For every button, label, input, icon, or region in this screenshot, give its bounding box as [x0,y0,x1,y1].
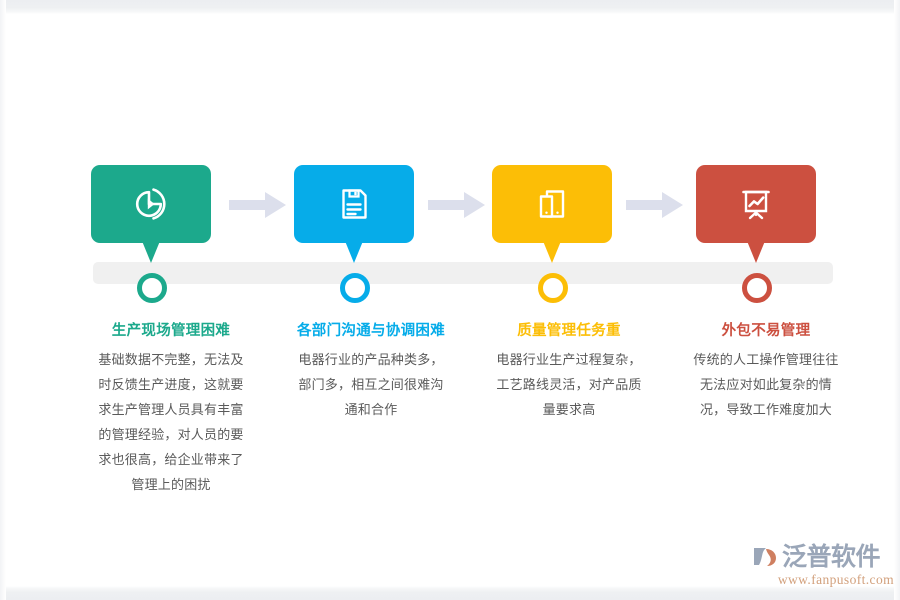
stage-3-timeline-node[interactable] [538,273,568,303]
stage-2-timeline-node[interactable] [340,273,370,303]
stage-3[interactable] [492,165,614,243]
stage-2-pointer [345,241,363,263]
devices-icon [530,182,574,226]
stage-2-card[interactable] [294,165,414,243]
stage-4-text: 外包不易管理 传统的人工操作管理往往无法应对如此复杂的情况，导致工作难度加大 [692,320,840,422]
stage-3-pointer [543,241,561,263]
stage-4-title: 外包不易管理 [692,320,840,343]
stage-2-body: 电器行业的产品种类多，部门多，相互之间很难沟通和合作 [297,347,445,422]
stage-3-card[interactable] [492,165,612,243]
stage-3-title: 质量管理任务重 [495,320,643,343]
stage-4[interactable] [696,165,818,243]
watermark-logo: 泛普软件 www.fanpusoft.com [752,541,894,591]
watermark-brand-row: 泛普软件 [752,541,894,573]
flow-arrow-3 [626,191,683,219]
stage-2-text: 各部门沟通与协调困难 电器行业的产品种类多，部门多，相互之间很难沟通和合作 [297,320,445,422]
right-arrow-icon [428,191,485,219]
stage-1-body: 基础数据不完整，无法及时反馈生产进度，这就要求生产管理人员具有丰富的管理经验，对… [97,347,245,497]
stage-2[interactable] [294,165,416,243]
watermark-brand-text: 泛普软件 [782,543,880,571]
presentation-chart-icon [734,182,778,226]
flow-arrow-2 [428,191,485,219]
stage-1-pointer [142,241,160,263]
flow-arrow-1 [229,191,286,219]
watermark-url: www.fanpusoft.com [752,572,894,588]
stage-4-timeline-node[interactable] [742,273,772,303]
stage-1[interactable] [91,165,213,243]
stage-1-title: 生产现场管理困难 [97,320,245,343]
stage-1-card[interactable] [91,165,211,243]
stage-2-title: 各部门沟通与协调困难 [297,320,445,343]
stage-4-body: 传统的人工操作管理往往无法应对如此复杂的情况，导致工作难度加大 [692,347,840,422]
stage-4-card[interactable] [696,165,816,243]
target-pie-icon [129,182,173,226]
stage-3-body: 电器行业生产过程复杂，工艺路线灵活，对产品质量要求高 [495,347,643,422]
diagram-canvas: 生产现场管理困难 基础数据不完整，无法及时反馈生产进度，这就要求生产管理人员具有… [0,0,900,600]
stage-4-pointer [747,241,765,263]
save-document-icon [332,182,376,226]
stage-group [0,0,900,600]
right-arrow-icon [626,191,683,219]
stage-3-text: 质量管理任务重 电器行业生产过程复杂，工艺路线灵活，对产品质量要求高 [495,320,643,422]
stage-1-text: 生产现场管理困难 基础数据不完整，无法及时反馈生产进度，这就要求生产管理人员具有… [97,320,245,497]
right-arrow-icon [229,191,286,219]
fanpu-logo-icon [752,543,780,571]
stage-1-timeline-node[interactable] [137,273,167,303]
